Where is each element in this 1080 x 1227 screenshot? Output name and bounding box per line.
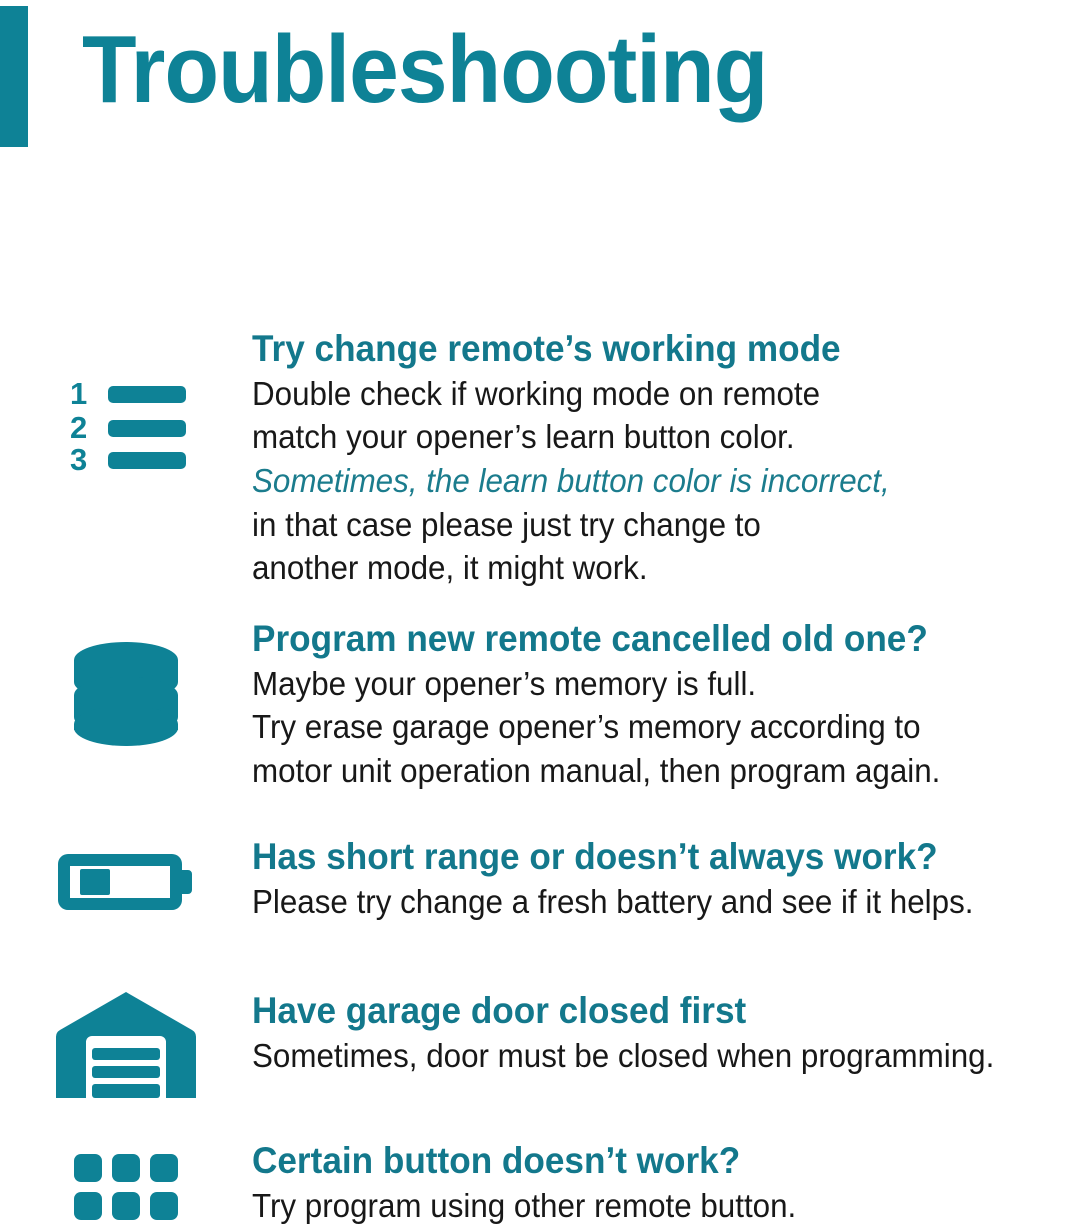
icon-container: [0, 990, 252, 1100]
database-icon: [70, 642, 182, 750]
icon-container: [0, 1140, 252, 1222]
icon-container: [0, 618, 252, 750]
item-line: Try program using other remote button.: [252, 1184, 1025, 1227]
numbered-list-digit-2: 2: [70, 410, 87, 445]
troubleshooting-item: Program new remote cancelled old one? Ma…: [0, 618, 1080, 793]
title-accent-bar: [0, 6, 28, 147]
item-title: Certain button doesn’t work?: [252, 1140, 1025, 1183]
troubleshooting-item: Certain button doesn’t work? Try program…: [0, 1140, 1080, 1227]
item-title: Has short range or doesn’t always work?: [252, 836, 1025, 879]
item-line: Please try change a fresh battery and se…: [252, 880, 1025, 924]
troubleshooting-item: 1 2 3 Try change remote’s working mode D…: [0, 328, 1080, 590]
text-container: Certain button doesn’t work? Try program…: [252, 1140, 1080, 1227]
troubleshooting-item: Has short range or doesn’t always work? …: [0, 836, 1080, 923]
item-line: Double check if working mode on remote: [252, 372, 1025, 416]
item-line-emphasis: Sometimes, the learn button color is inc…: [252, 459, 1025, 503]
item-line: Sometimes, door must be closed when prog…: [252, 1034, 1025, 1078]
text-container: Has short range or doesn’t always work? …: [252, 836, 1080, 923]
garage-door-icon: [56, 990, 196, 1100]
page-header: Troubleshooting: [0, 0, 1080, 160]
numbered-list-digit-1: 1: [70, 380, 87, 411]
icon-container: [0, 836, 252, 914]
item-title: Have garage door closed first: [252, 990, 1025, 1033]
page-title: Troubleshooting: [82, 22, 767, 118]
item-line: Maybe your opener’s memory is full.: [252, 662, 1025, 706]
item-line: in that case please just try change to: [252, 503, 1025, 547]
item-title: Program new remote cancelled old one?: [252, 618, 1025, 661]
item-line: another mode, it might work.: [252, 546, 1025, 590]
item-line: motor unit operation manual, then progra…: [252, 749, 1025, 793]
numbered-list-digit-3: 3: [70, 442, 87, 472]
numbered-list-icon: 1 2 3: [66, 380, 186, 472]
item-line: Try erase garage opener’s memory accordi…: [252, 705, 1025, 749]
text-container: Try change remote’s working mode Double …: [252, 328, 1080, 590]
item-line: match your opener’s learn button color.: [252, 415, 1025, 459]
text-container: Program new remote cancelled old one? Ma…: [252, 618, 1080, 793]
item-title: Try change remote’s working mode: [252, 328, 1025, 371]
icon-container: 1 2 3: [0, 328, 252, 472]
text-container: Have garage door closed first Sometimes,…: [252, 990, 1080, 1077]
low-battery-icon: [58, 850, 194, 914]
troubleshooting-item: Have garage door closed first Sometimes,…: [0, 990, 1080, 1100]
keypad-buttons-icon: [74, 1154, 178, 1222]
